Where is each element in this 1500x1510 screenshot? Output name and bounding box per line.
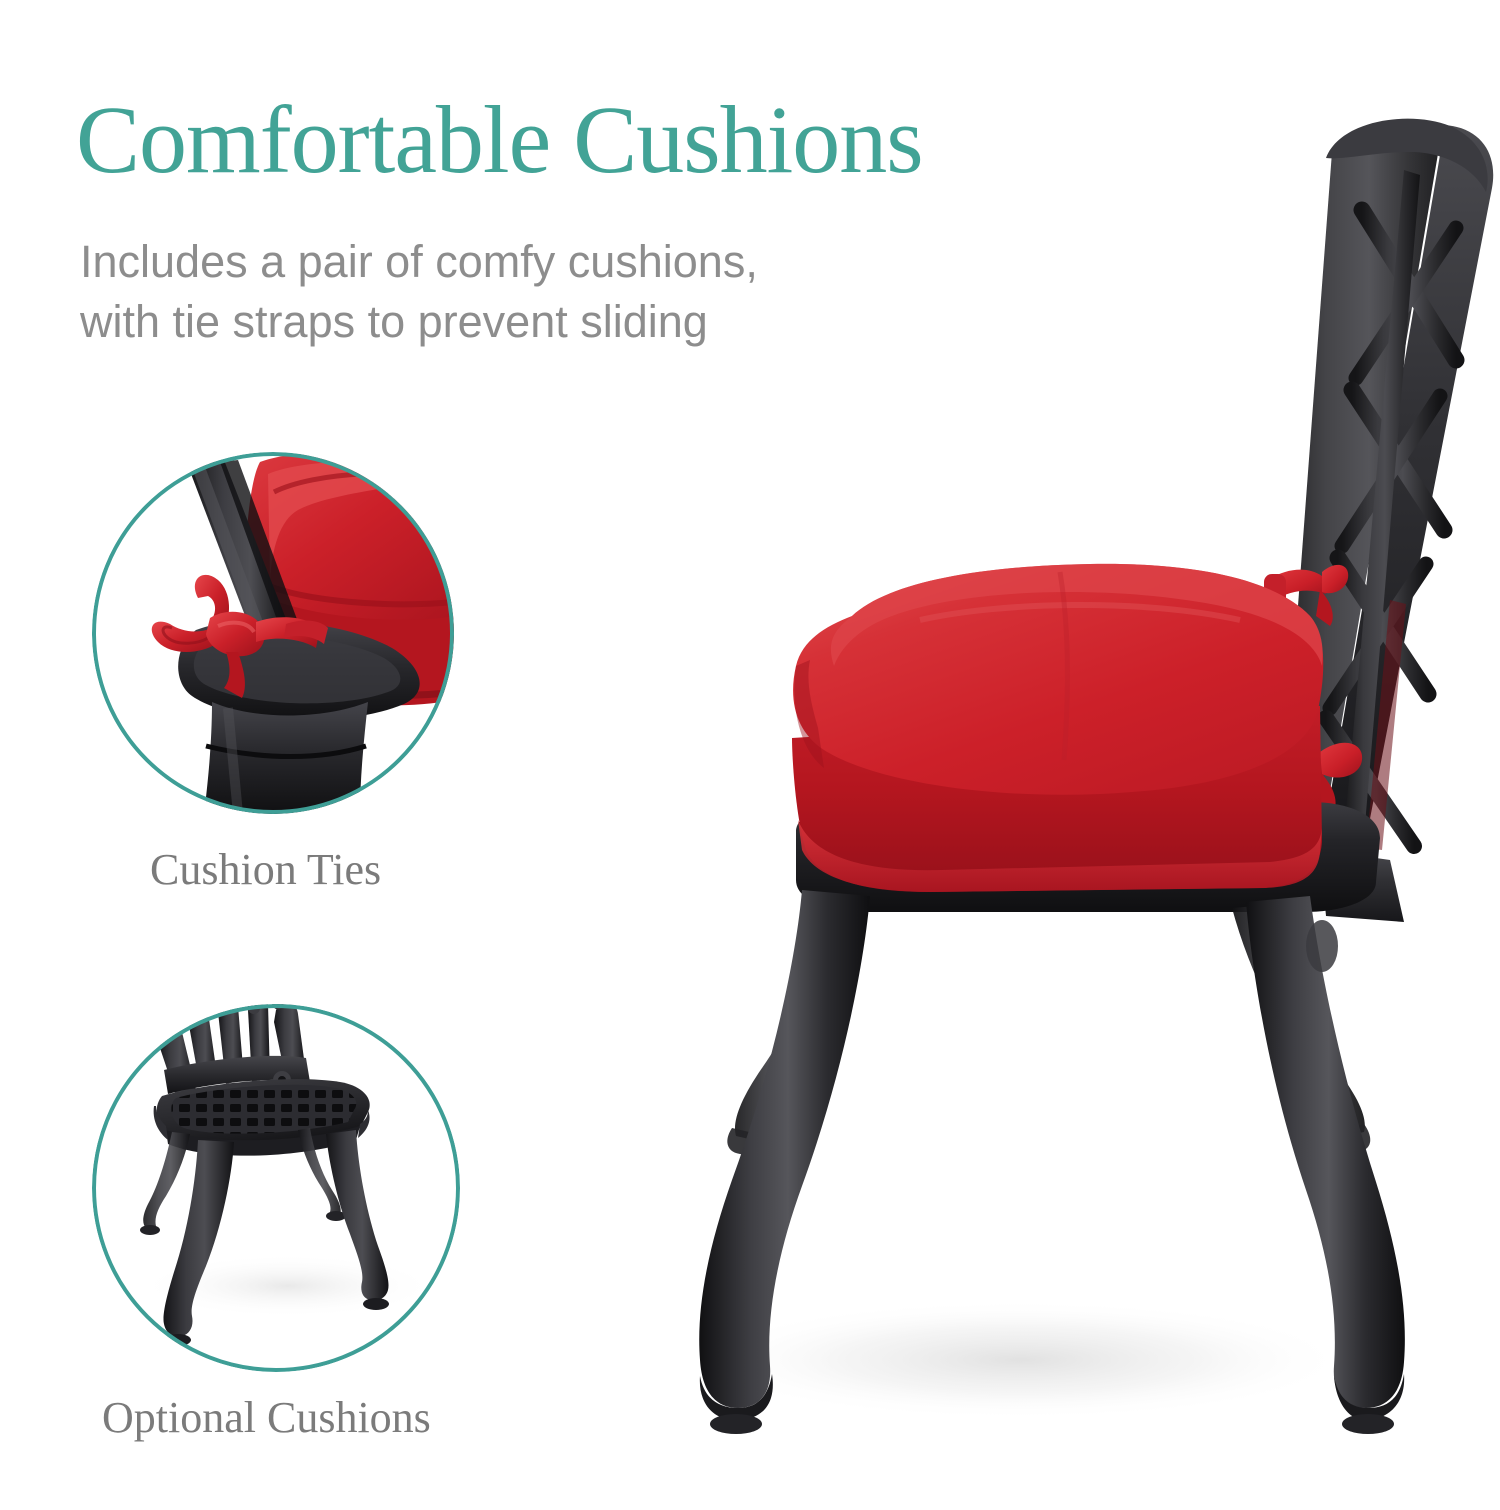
bare-chair-illustration xyxy=(92,1004,460,1372)
floor-shadow xyxy=(690,1300,1350,1420)
callout-caption-cushion-ties: Cushion Ties xyxy=(150,844,381,895)
product-feature-image: Comfortable Cushions Includes a pair of … xyxy=(0,0,1500,1500)
callout-caption-optional-cushions: Optional Cushions xyxy=(102,1392,431,1443)
cushion-ties-closeup-illustration xyxy=(92,452,454,814)
red-seat-cushion xyxy=(792,564,1323,892)
callout-circle-cushion-ties xyxy=(92,452,454,814)
callout-circle-optional-cushions xyxy=(92,1004,460,1372)
hero-chair-image xyxy=(620,60,1500,1510)
